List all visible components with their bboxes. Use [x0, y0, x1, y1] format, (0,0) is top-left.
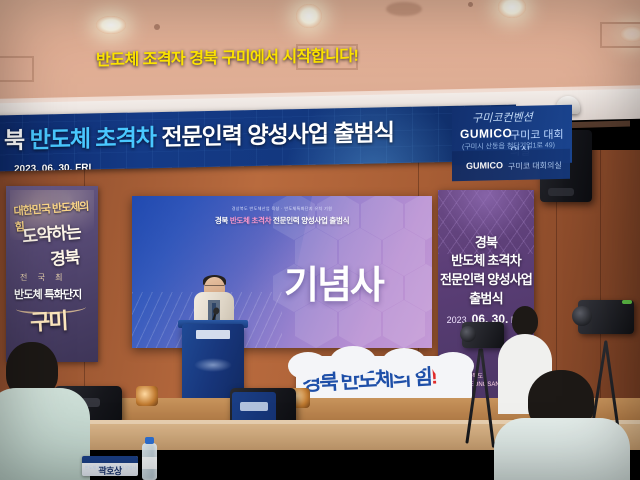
camera-lens-icon: [460, 326, 476, 342]
left-banner-line3: 경북: [49, 243, 80, 270]
podium-name-plate: [196, 330, 230, 339]
ceiling-vent: [600, 22, 640, 48]
right-banner-line4: 출범식: [438, 288, 534, 307]
bottle-cap: [145, 437, 154, 444]
banner-subtitle: 반도체 조격자 경북 구미에서 시작합니다!: [96, 42, 358, 71]
left-banner-divider: 전 국 최: [20, 272, 67, 283]
gumico-name: GUMICO: [460, 126, 512, 141]
podium-emblem: [194, 358, 232, 372]
gumico-name: GUMICO: [466, 160, 503, 171]
screen-title-pre: 경북: [215, 216, 228, 225]
right-banner-line3: 전문인력 양성사업: [438, 269, 534, 288]
left-banner-line4: 반도체 특화단지: [14, 286, 82, 302]
main-stage-banner: 북 반도체 초격차 전문인력 양성사업 출범식 2023. 06. 30. FR…: [0, 105, 516, 172]
right-banner-line1: 경북: [438, 232, 534, 251]
cloud-bump: [432, 352, 474, 380]
gumico-panel-secondary: GUMICO 구미코 대회의실: [452, 149, 570, 181]
ceiling-speaker: [386, 2, 422, 16]
bottle-label: [142, 457, 157, 469]
screen-title-post: 전문인력 양성사업 출범식: [273, 216, 349, 225]
photo-scene: 북 반도체 초격차 전문인력 양성사업 출범식 2023. 06. 30. FR…: [0, 0, 640, 480]
ceiling-sensor: [154, 24, 160, 30]
cloud-bump: [382, 348, 426, 376]
screen-top-caption: 경상북도 반도체산업 육성 · 반도체특화단지 유치 기원: [232, 206, 333, 212]
ceiling-light: [498, 0, 526, 18]
name-plate-name: 곽호상: [82, 464, 138, 476]
gumico-name-ko: 구미코 대회의실: [508, 160, 562, 172]
ceiling-light: [296, 4, 322, 28]
ceiling-sensor: [468, 2, 473, 7]
banner-title-prefix: 북: [4, 127, 24, 153]
screen-main-text: 기념사: [284, 254, 383, 309]
stage-spotlight: [136, 386, 158, 406]
right-banner-line2: 반도체 초격차: [438, 250, 534, 269]
banner-title-highlight: 반도체 초격차: [30, 124, 156, 153]
screen-title: 경북 반도체 초격차 전문인력 양성사업 출범식: [215, 215, 349, 226]
left-vertical-banner: 대한민국 반도체의 힘 도약하는 경북 전 국 최 반도체 특화단지 구미: [6, 186, 98, 362]
name-plate: 반도체 초격차 전문인력 양성사업 곽호상: [82, 456, 138, 476]
water-bottle: [142, 443, 157, 480]
screen-title-highlight: 반도체 초격차: [230, 216, 271, 225]
name-plate-header: 반도체 초격차 전문인력 양성사업: [82, 456, 138, 463]
cloud-bump: [330, 346, 376, 376]
led-stage-screen: 경상북도 반도체산업 육성 · 반도체특화단지 유치 기원 경북 반도체 초격차…: [132, 196, 432, 348]
ceiling-light: [96, 16, 126, 34]
camera-lens-icon: [572, 306, 592, 326]
left-banner-line5: 구미: [29, 303, 67, 337]
cloud-bump: [288, 352, 328, 380]
speaker-glasses-icon: [205, 285, 224, 290]
gumico-script: 구미코컨벤션: [472, 109, 533, 126]
ceiling-vent: [0, 56, 34, 82]
camera-tally-light-icon: [622, 300, 632, 304]
banner-title-rest: 전문인력 양성사업 출범식: [161, 119, 394, 150]
